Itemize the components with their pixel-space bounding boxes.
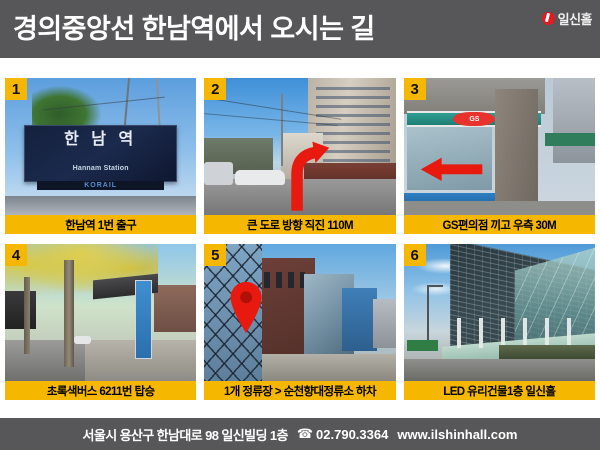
footer-phone-number: 02.790.3364	[316, 427, 388, 442]
green-road-sign	[407, 340, 438, 351]
step-card-2[interactable]: 2 큰 도로 방향 직진 110M	[204, 78, 395, 234]
step-photo-4: 4	[5, 244, 196, 381]
step-caption-4: 초록색버스 6211번 탑승	[5, 381, 196, 400]
poster-footer: 서울시 용산구 한남대로 98 일신빌딩 1층 ☎ 02.790.3364 ww…	[0, 418, 600, 450]
step-photo-2: 2	[204, 78, 395, 215]
right-shop	[154, 285, 196, 332]
blue-building	[342, 288, 376, 351]
step-badge-5: 5	[204, 244, 226, 266]
brand-logo: 일신홀	[542, 9, 600, 50]
right-green-awning	[545, 133, 595, 147]
bus-stop-sign	[135, 280, 152, 359]
road-surface	[404, 359, 595, 381]
red-curved-arrow-icon	[281, 134, 335, 211]
step-card-1[interactable]: 한 남 역 Hannam Station KORAIL 1 한남역 1번 출구	[5, 78, 196, 234]
ground-surface	[404, 201, 595, 215]
far-building	[373, 299, 396, 348]
station-name-korean: 한 남 역	[25, 132, 176, 148]
step-card-4[interactable]: 4 초록색버스 6211번 탑승	[5, 244, 196, 400]
tree-trunk-1	[64, 260, 74, 367]
route-guide-poster: 경의중앙선 한남역에서 오시는 길 일신홀 한 남 역 Hannam Stati…	[0, 0, 600, 450]
step-photo-1: 한 남 역 Hannam Station KORAIL 1	[5, 78, 196, 215]
step-grid: 한 남 역 Hannam Station KORAIL 1 한남역 1번 출구	[0, 58, 600, 418]
footer-website[interactable]: www.ilshinhall.com	[397, 427, 517, 442]
step-caption-2: 큰 도로 방향 직진 110M	[204, 215, 395, 234]
step-photo-6: 6	[404, 244, 595, 381]
ground-surface	[5, 196, 196, 215]
gs25-logo-icon: GS	[453, 112, 495, 126]
step-card-6[interactable]: 6 LED 유리건물1층 일신홀	[404, 244, 595, 400]
red-left-arrow-icon	[419, 157, 484, 182]
station-name-english: Hannam Station	[25, 165, 176, 172]
facade-pillars	[457, 318, 583, 348]
step-caption-6: LED 유리건물1층 일신홀	[404, 381, 595, 400]
step-badge-2: 2	[204, 78, 226, 100]
building-column	[495, 89, 537, 204]
step-photo-5: 5	[204, 244, 395, 381]
poster-header: 경의중앙선 한남역에서 오시는 길 일신홀	[0, 0, 600, 58]
ilshin-logo-icon	[542, 12, 555, 25]
footer-phone: ☎ 02.790.3364	[297, 426, 389, 442]
station-signboard: 한 남 역 Hannam Station KORAIL	[24, 125, 177, 183]
red-map-pin-icon	[227, 280, 265, 335]
left-building	[5, 291, 36, 329]
step-badge-6: 6	[404, 244, 426, 266]
parked-car	[235, 170, 285, 185]
step-badge-3: 3	[404, 78, 426, 100]
tree-trunk-2	[24, 277, 30, 354]
step-badge-1: 1	[5, 78, 27, 100]
step-caption-1: 한남역 1번 출구	[5, 215, 196, 234]
page-title: 경의중앙선 한남역에서 오시는 길	[0, 16, 375, 43]
hedge-row	[499, 345, 595, 359]
step-photo-3: GS 3	[404, 78, 595, 215]
parked-van	[204, 162, 233, 185]
step-card-3[interactable]: GS 3 GS편의점 끼고 우측 30M	[404, 78, 595, 234]
korail-logo-label: KORAIL	[37, 181, 164, 190]
right-building	[553, 78, 595, 163]
step-caption-3: GS편의점 끼고 우측 30M	[404, 215, 595, 234]
footer-address: 서울시 용산구 한남대로 98 일신빌딩 1층	[82, 425, 287, 444]
step-badge-4: 4	[5, 244, 27, 266]
step-card-5[interactable]: 5 1개 정류장 > 순천향대정류소 하차	[204, 244, 395, 400]
step-caption-5: 1개 정류장 > 순천향대정류소 하차	[204, 381, 395, 400]
street-lamp-icon	[427, 285, 429, 340]
brand-name-label: 일신홀	[558, 9, 592, 28]
distant-car	[74, 336, 91, 344]
phone-icon: ☎	[297, 426, 313, 442]
